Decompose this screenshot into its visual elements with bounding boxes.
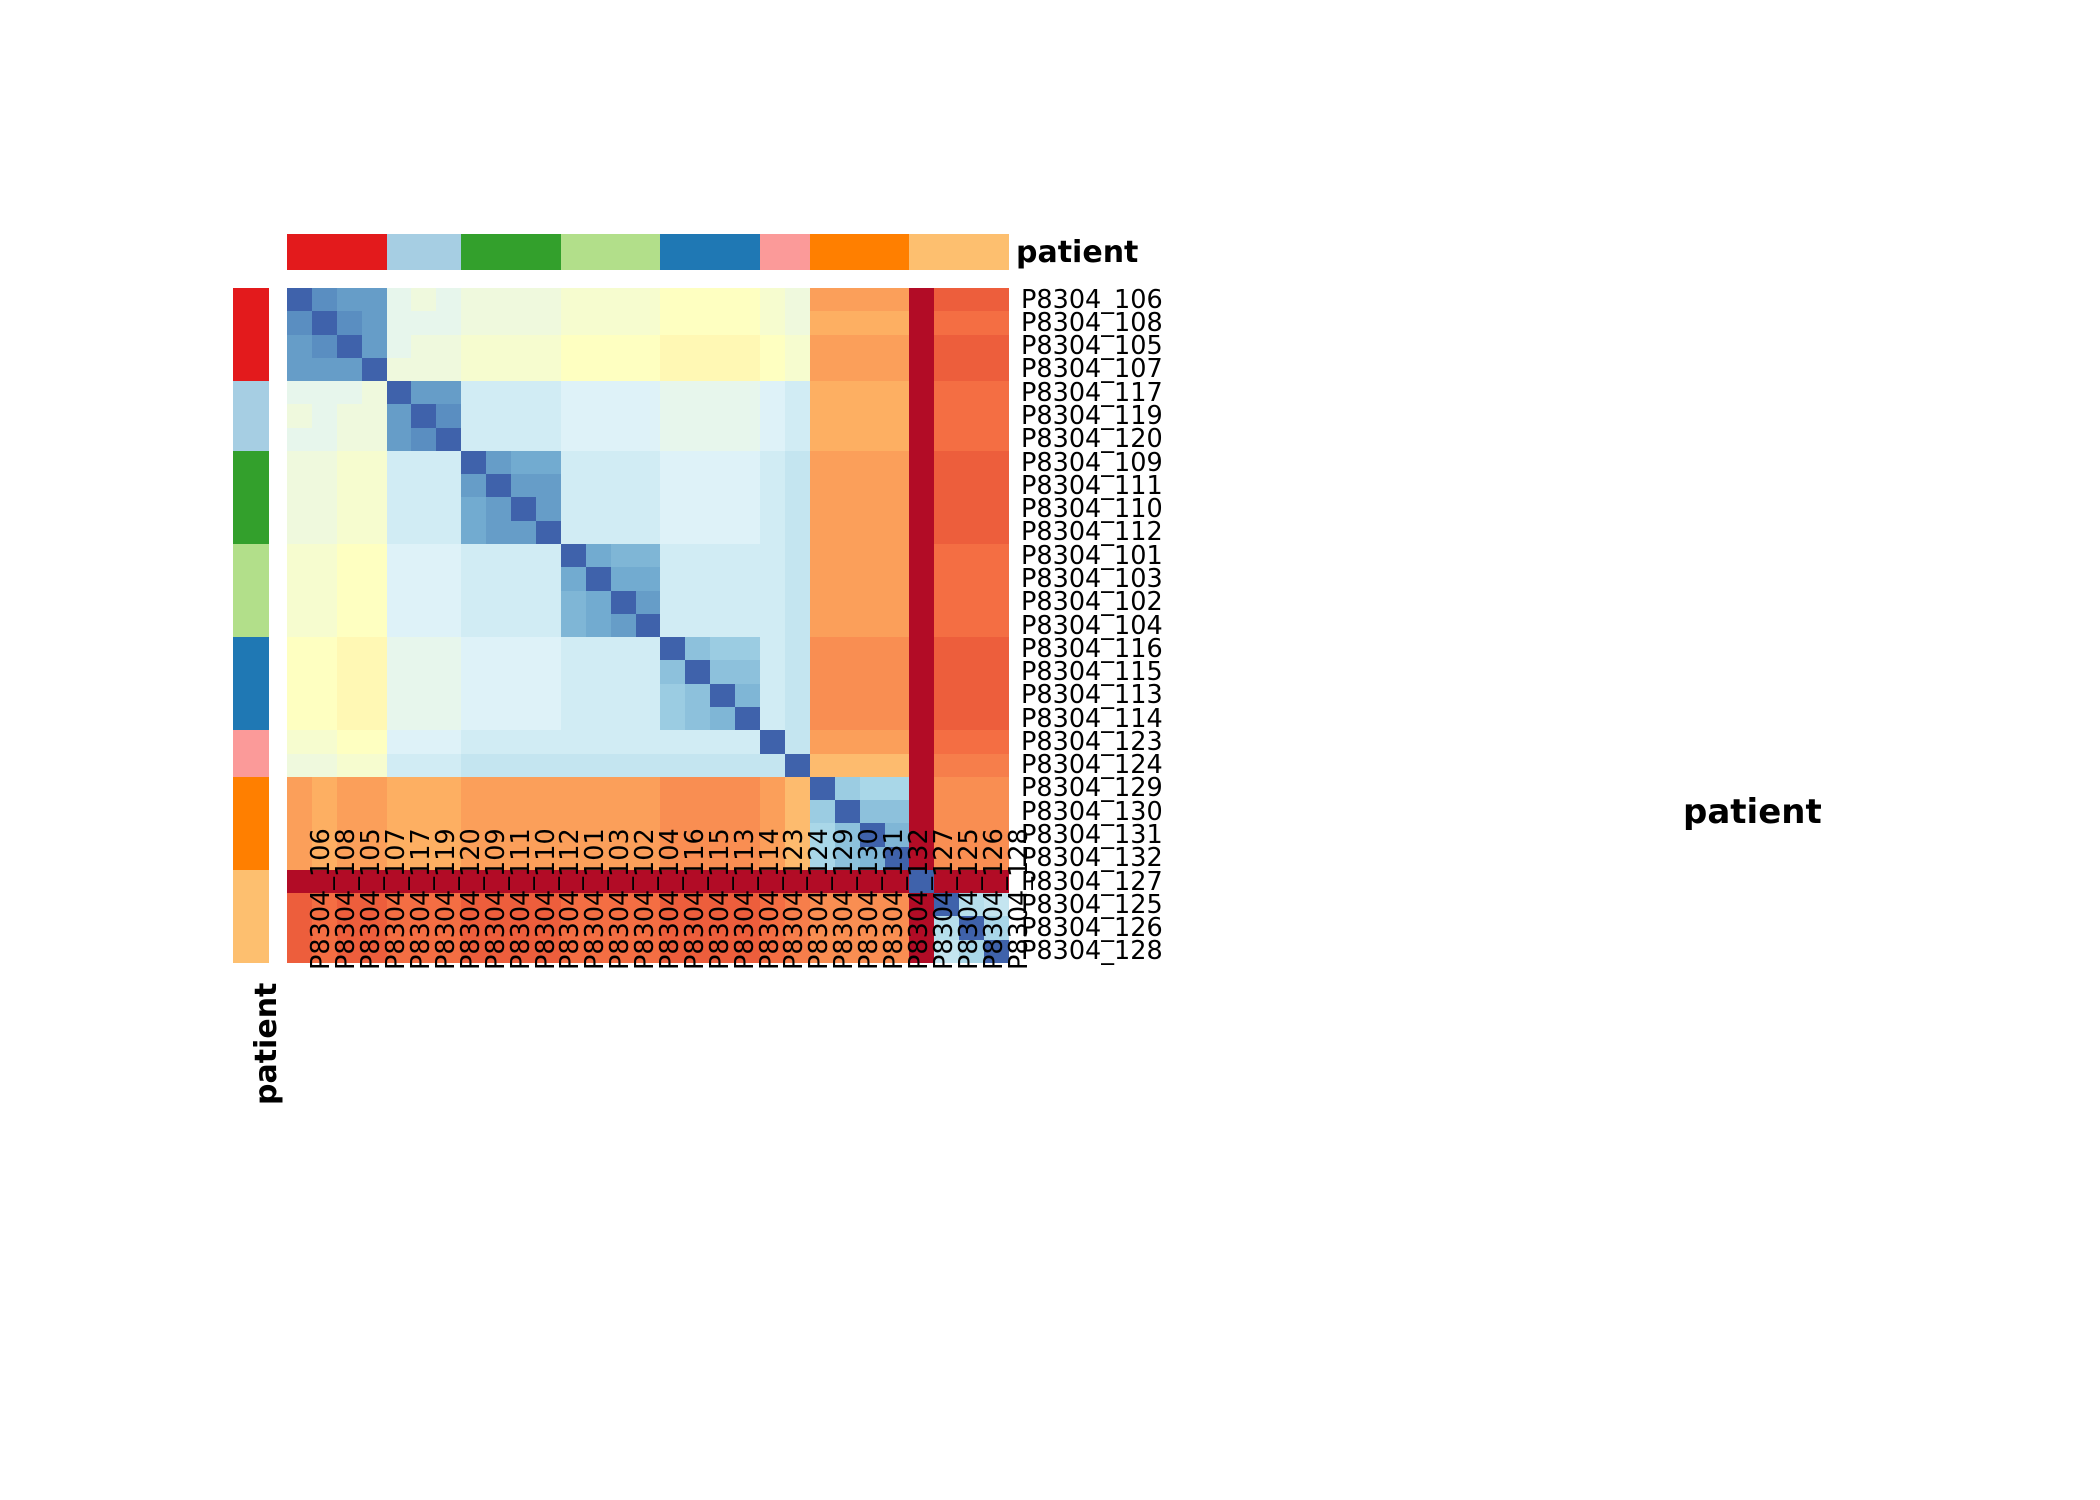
- heatmap-cell: [536, 591, 561, 614]
- heatmap-cell: [835, 497, 860, 520]
- heatmap-cell: [561, 311, 586, 334]
- heatmap-cell: [810, 335, 835, 358]
- heatmap-cell: [387, 404, 412, 427]
- heatmap-cell: [362, 404, 387, 427]
- heatmap-cell: [387, 800, 412, 823]
- heatmap-cell: [287, 777, 312, 800]
- heatmap-cell: [909, 288, 934, 311]
- column-annotation-cell: [859, 234, 884, 270]
- heatmap-cell: [362, 474, 387, 497]
- heatmap-cell: [959, 591, 984, 614]
- column-annotation-cell: [835, 234, 860, 270]
- heatmap-cell: [436, 358, 461, 381]
- colorbar-tick-group: [1540, 220, 1780, 650]
- row-annotation-cell: [233, 358, 269, 381]
- heatmap-cell: [287, 311, 312, 334]
- heatmap-cell: [710, 288, 735, 311]
- heatmap-cell: [461, 684, 486, 707]
- heatmap-cell: [636, 567, 661, 590]
- column-annotation-title: patient: [1016, 238, 1138, 268]
- row-annotation-cell: [233, 474, 269, 497]
- heatmap-cell: [760, 358, 785, 381]
- heatmap-cell: [611, 474, 636, 497]
- heatmap-cell: [362, 707, 387, 730]
- heatmap-cell: [411, 428, 436, 451]
- heatmap-cell: [436, 754, 461, 777]
- column-annotation-cell: [611, 234, 636, 270]
- heatmap-cell: [735, 497, 760, 520]
- heatmap-cell: [362, 521, 387, 544]
- heatmap-cell: [486, 521, 511, 544]
- row-annotation-cell: [233, 381, 269, 404]
- heatmap-cell: [362, 660, 387, 683]
- heatmap-cell: [461, 451, 486, 474]
- heatmap-cell: [312, 335, 337, 358]
- heatmap-cell: [909, 474, 934, 497]
- heatmap-cell: [685, 684, 710, 707]
- heatmap-cell: [660, 521, 685, 544]
- heatmap-cell: [685, 335, 710, 358]
- heatmap-cell: [611, 544, 636, 567]
- heatmap-cell: [909, 591, 934, 614]
- heatmap-cell: [810, 660, 835, 683]
- heatmap-cell: [810, 567, 835, 590]
- heatmap-cell: [611, 497, 636, 520]
- heatmap-cell: [611, 288, 636, 311]
- heatmap-cell: [685, 288, 710, 311]
- heatmap-cell: [561, 404, 586, 427]
- column-annotation-cell: [884, 234, 909, 270]
- heatmap-cell: [860, 660, 885, 683]
- heatmap-cell: [536, 660, 561, 683]
- heatmap-cell: [486, 707, 511, 730]
- heatmap-cell: [511, 567, 536, 590]
- heatmap-cell: [860, 521, 885, 544]
- row-label-group: P8304_106P8304_108P8304_105P8304_107P830…: [1015, 288, 1295, 963]
- column-label: P8304_128: [1007, 828, 1033, 970]
- heatmap-cell: [885, 777, 910, 800]
- heatmap-cell: [636, 428, 661, 451]
- heatmap-cell: [586, 521, 611, 544]
- heatmap-cell: [735, 404, 760, 427]
- heatmap-cell: [461, 614, 486, 637]
- heatmap-cell: [835, 521, 860, 544]
- heatmap-cell: [436, 707, 461, 730]
- heatmap-cell: [611, 754, 636, 777]
- heatmap-cell: [337, 567, 362, 590]
- heatmap-cell: [710, 428, 735, 451]
- heatmap-cell: [660, 381, 685, 404]
- heatmap-cell: [860, 335, 885, 358]
- heatmap-cell: [486, 497, 511, 520]
- heatmap-cell: [362, 754, 387, 777]
- heatmap-cell: [685, 404, 710, 427]
- heatmap-cell: [835, 660, 860, 683]
- heatmap-cell: [810, 777, 835, 800]
- heatmap-cell: [710, 800, 735, 823]
- heatmap-cell: [810, 358, 835, 381]
- heatmap-cell: [636, 800, 661, 823]
- row-annotation-cell: [233, 451, 269, 474]
- heatmap-cell: [735, 591, 760, 614]
- heatmap-cell: [486, 660, 511, 683]
- heatmap-cell: [735, 474, 760, 497]
- heatmap-cell: [611, 567, 636, 590]
- heatmap-cell: [486, 730, 511, 753]
- heatmap-cell: [710, 754, 735, 777]
- heatmap-cell: [436, 288, 461, 311]
- heatmap-cell: [511, 358, 536, 381]
- heatmap-cell: [461, 660, 486, 683]
- column-annotation-cell: [810, 234, 835, 270]
- heatmap-cell: [387, 451, 412, 474]
- heatmap-cell: [959, 521, 984, 544]
- row-annotation-cell: [233, 730, 269, 753]
- heatmap-cell: [337, 591, 362, 614]
- heatmap-cell: [636, 591, 661, 614]
- heatmap-cell: [785, 451, 810, 474]
- heatmap-cell: [436, 614, 461, 637]
- heatmap-cell: [810, 637, 835, 660]
- heatmap-cell: [735, 730, 760, 753]
- heatmap-cell: [337, 381, 362, 404]
- row-annotation-cell: [233, 917, 269, 940]
- heatmap-cell: [636, 614, 661, 637]
- heatmap-cell: [810, 591, 835, 614]
- heatmap-cell: [810, 800, 835, 823]
- row-annotation-cell: [233, 847, 269, 870]
- heatmap-cell: [362, 684, 387, 707]
- heatmap-cell: [885, 358, 910, 381]
- heatmap-cell: [984, 591, 1009, 614]
- heatmap-cell: [337, 800, 362, 823]
- heatmap-cell: [959, 497, 984, 520]
- heatmap-cell: [586, 660, 611, 683]
- heatmap-cell: [835, 474, 860, 497]
- row-annotation-cell: [233, 428, 269, 451]
- heatmap-cell: [387, 660, 412, 683]
- heatmap-cell: [312, 637, 337, 660]
- heatmap-cell: [461, 707, 486, 730]
- heatmap-cell: [436, 404, 461, 427]
- heatmap-cell: [362, 544, 387, 567]
- row-annotation-cell: [233, 567, 269, 590]
- heatmap-cell: [909, 707, 934, 730]
- heatmap-cell: [312, 358, 337, 381]
- heatmap-cell: [760, 288, 785, 311]
- column-annotation-cell: [959, 234, 984, 270]
- heatmap-cell: [860, 637, 885, 660]
- heatmap-cell: [885, 800, 910, 823]
- heatmap-cell: [934, 358, 959, 381]
- heatmap-cell: [685, 567, 710, 590]
- heatmap-cell: [312, 474, 337, 497]
- heatmap-cell: [760, 474, 785, 497]
- heatmap-cell: [909, 660, 934, 683]
- heatmap-cell: [411, 730, 436, 753]
- heatmap-cell: [536, 474, 561, 497]
- heatmap-cell: [959, 684, 984, 707]
- heatmap-cell: [511, 800, 536, 823]
- heatmap-cell: [760, 311, 785, 334]
- heatmap-cell: [660, 754, 685, 777]
- heatmap-cell: [984, 311, 1009, 334]
- heatmap-cell: [660, 544, 685, 567]
- heatmap-cell: [337, 311, 362, 334]
- heatmap-cell: [909, 684, 934, 707]
- heatmap-cell: [909, 404, 934, 427]
- heatmap-cell: [909, 800, 934, 823]
- heatmap-cell: [312, 660, 337, 683]
- heatmap-cell: [611, 637, 636, 660]
- heatmap-cell: [909, 521, 934, 544]
- heatmap-cell: [561, 428, 586, 451]
- heatmap-cell: [561, 614, 586, 637]
- heatmap-cell: [511, 497, 536, 520]
- heatmap-cell: [611, 521, 636, 544]
- column-annotation-cell: [411, 234, 436, 270]
- heatmap-cell: [387, 497, 412, 520]
- heatmap-cell: [511, 474, 536, 497]
- heatmap-cell: [586, 544, 611, 567]
- heatmap-cell: [461, 358, 486, 381]
- heatmap-cell: [287, 288, 312, 311]
- heatmap-cell: [660, 474, 685, 497]
- heatmap-cell: [710, 497, 735, 520]
- heatmap-cell: [387, 614, 412, 637]
- heatmap-cell: [411, 567, 436, 590]
- heatmap-cell: [436, 684, 461, 707]
- row-annotation-cell: [233, 288, 269, 311]
- heatmap-cell: [885, 637, 910, 660]
- column-annotation-cell: [486, 234, 511, 270]
- heatmap-cell: [387, 777, 412, 800]
- column-annotation-cell: [312, 234, 337, 270]
- heatmap-cell: [660, 311, 685, 334]
- heatmap-cell: [636, 451, 661, 474]
- heatmap-cell: [710, 777, 735, 800]
- heatmap-cell: [362, 358, 387, 381]
- heatmap-cell: [810, 497, 835, 520]
- heatmap-cell: [337, 288, 362, 311]
- heatmap-cell: [511, 428, 536, 451]
- heatmap-cell: [735, 614, 760, 637]
- heatmap-cell: [685, 777, 710, 800]
- heatmap-cell: [586, 381, 611, 404]
- heatmap-cell: [436, 311, 461, 334]
- heatmap-cell: [586, 637, 611, 660]
- heatmap-cell: [984, 544, 1009, 567]
- heatmap-cell: [362, 800, 387, 823]
- heatmap-cell: [536, 404, 561, 427]
- heatmap-cell: [959, 754, 984, 777]
- heatmap-cell: [885, 684, 910, 707]
- heatmap-cell: [536, 614, 561, 637]
- heatmap-cell: [810, 684, 835, 707]
- heatmap-cell: [561, 335, 586, 358]
- heatmap-cell: [710, 544, 735, 567]
- heatmap-cell: [636, 660, 661, 683]
- heatmap-cell: [860, 381, 885, 404]
- heatmap-cell: [710, 335, 735, 358]
- row-dendrogram: [8, 288, 230, 963]
- heatmap-cell: [362, 614, 387, 637]
- heatmap-cell: [436, 451, 461, 474]
- heatmap-cell: [860, 451, 885, 474]
- heatmap-cell: [511, 660, 536, 683]
- heatmap-cell: [337, 544, 362, 567]
- heatmap-cell: [486, 451, 511, 474]
- heatmap-cell: [411, 707, 436, 730]
- heatmap-cell: [312, 381, 337, 404]
- heatmap-cell: [959, 637, 984, 660]
- heatmap-cell: [536, 637, 561, 660]
- heatmap-cell: [909, 730, 934, 753]
- heatmap-cell: [387, 637, 412, 660]
- heatmap-cell: [411, 754, 436, 777]
- heatmap-cell: [760, 637, 785, 660]
- heatmap-cell: [909, 358, 934, 381]
- legend-title: patient: [1683, 795, 1822, 829]
- heatmap-cell: [660, 358, 685, 381]
- heatmap-cell: [461, 521, 486, 544]
- heatmap-cell: [959, 358, 984, 381]
- heatmap-cell: [810, 381, 835, 404]
- heatmap-cell: [461, 637, 486, 660]
- heatmap-cell: [561, 684, 586, 707]
- heatmap-cell: [785, 497, 810, 520]
- heatmap-cell: [511, 684, 536, 707]
- heatmap-cell: [760, 404, 785, 427]
- heatmap-cell: [511, 544, 536, 567]
- heatmap-cell: [411, 777, 436, 800]
- heatmap-cell: [362, 730, 387, 753]
- heatmap-cell: [337, 637, 362, 660]
- heatmap-cell: [984, 754, 1009, 777]
- heatmap-cell: [486, 591, 511, 614]
- heatmap-cell: [561, 777, 586, 800]
- heatmap-cell: [461, 800, 486, 823]
- heatmap-cell: [337, 730, 362, 753]
- heatmap-cell: [337, 660, 362, 683]
- heatmap-cell: [909, 428, 934, 451]
- heatmap-cell: [984, 614, 1009, 637]
- heatmap-cell: [735, 800, 760, 823]
- heatmap-cell: [312, 707, 337, 730]
- heatmap-cell: [312, 800, 337, 823]
- heatmap-cell: [660, 451, 685, 474]
- heatmap-cell: [461, 474, 486, 497]
- heatmap-cell: [785, 335, 810, 358]
- heatmap-cell: [337, 474, 362, 497]
- heatmap-cell: [312, 730, 337, 753]
- heatmap-cell: [959, 544, 984, 567]
- heatmap-cell: [984, 637, 1009, 660]
- heatmap-cell: [536, 311, 561, 334]
- heatmap-cell: [536, 335, 561, 358]
- heatmap-cell: [312, 521, 337, 544]
- heatmap-cell: [436, 544, 461, 567]
- heatmap-cell: [934, 311, 959, 334]
- heatmap-cell: [735, 684, 760, 707]
- heatmap-cell: [411, 497, 436, 520]
- heatmap-cell: [660, 288, 685, 311]
- heatmap-cell: [835, 335, 860, 358]
- heatmap-cell: [287, 497, 312, 520]
- heatmap-cell: [611, 451, 636, 474]
- row-annotation-cell: [233, 684, 269, 707]
- heatmap-cell: [860, 707, 885, 730]
- heatmap-cell: [312, 451, 337, 474]
- heatmap-cell: [411, 684, 436, 707]
- heatmap-cell: [735, 288, 760, 311]
- heatmap-cell: [411, 660, 436, 683]
- heatmap-cell: [810, 428, 835, 451]
- column-annotation-cell: [362, 234, 387, 270]
- heatmap-cell: [337, 497, 362, 520]
- heatmap-cell: [312, 497, 337, 520]
- heatmap-cell: [561, 591, 586, 614]
- heatmap-cell: [636, 474, 661, 497]
- heatmap-cell: [561, 288, 586, 311]
- heatmap-cell: [660, 684, 685, 707]
- heatmap-cell: [685, 521, 710, 544]
- column-annotation-cell: [685, 234, 710, 270]
- heatmap-cell: [486, 614, 511, 637]
- heatmap-cell: [586, 404, 611, 427]
- heatmap-cell: [561, 521, 586, 544]
- heatmap-cell: [810, 451, 835, 474]
- heatmap-cell: [685, 428, 710, 451]
- heatmap-cell: [511, 451, 536, 474]
- heatmap-cell: [486, 428, 511, 451]
- heatmap-cell: [636, 358, 661, 381]
- heatmap-cell: [760, 335, 785, 358]
- heatmap-cell: [636, 404, 661, 427]
- heatmap-cell: [636, 754, 661, 777]
- heatmap-cell: [660, 800, 685, 823]
- heatmap-cell: [312, 544, 337, 567]
- heatmap-cell: [337, 358, 362, 381]
- heatmap-cell: [636, 637, 661, 660]
- heatmap-cell: [312, 311, 337, 334]
- heatmap-cell: [885, 288, 910, 311]
- heatmap-cell: [934, 777, 959, 800]
- heatmap-cell: [934, 637, 959, 660]
- heatmap-cell: [287, 614, 312, 637]
- heatmap-cell: [835, 800, 860, 823]
- heatmap-cell: [835, 428, 860, 451]
- heatmap-cell: [860, 754, 885, 777]
- heatmap-cell: [909, 451, 934, 474]
- heatmap-cell: [909, 381, 934, 404]
- heatmap-cell: [411, 311, 436, 334]
- heatmap-cell: [486, 311, 511, 334]
- heatmap-cell: [860, 474, 885, 497]
- heatmap-cell: [959, 311, 984, 334]
- heatmap-cell: [586, 567, 611, 590]
- heatmap-cell: [735, 381, 760, 404]
- heatmap-cell: [909, 311, 934, 334]
- heatmap-cell: [511, 754, 536, 777]
- heatmap-cell: [636, 777, 661, 800]
- heatmap-cell: [660, 335, 685, 358]
- column-annotation-cell: [934, 234, 959, 270]
- heatmap-cell: [835, 707, 860, 730]
- heatmap-cell: [835, 591, 860, 614]
- heatmap-cell: [710, 404, 735, 427]
- heatmap-cell: [984, 660, 1009, 683]
